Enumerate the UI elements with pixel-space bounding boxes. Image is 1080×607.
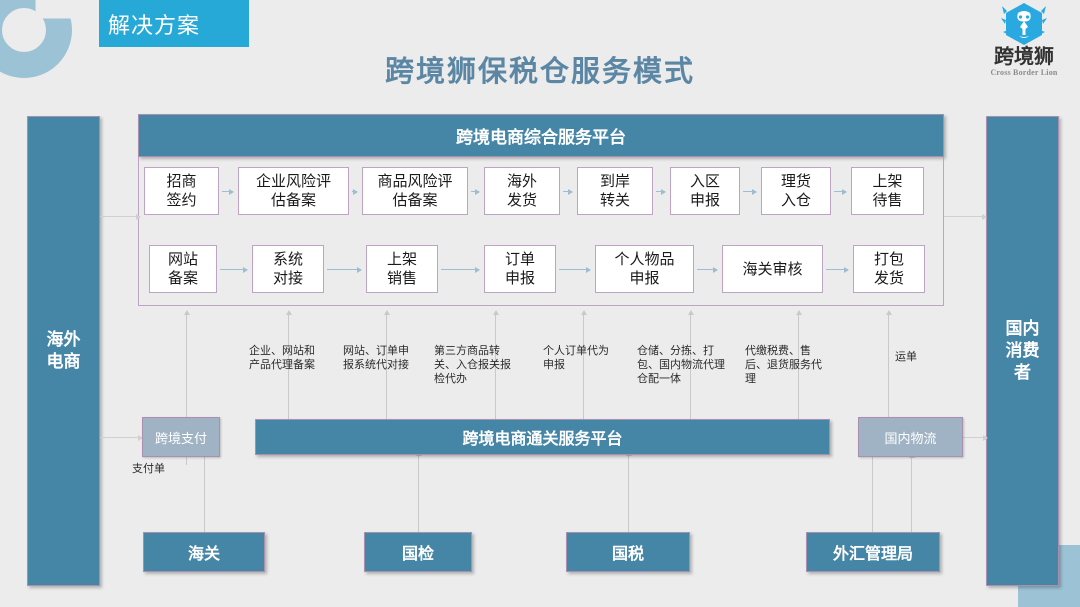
- pillar-domestic-consumer: 国内消费者: [986, 116, 1059, 586]
- process-box-r2-5[interactable]: 个人物品申报: [595, 245, 694, 293]
- process-box-r1-3[interactable]: 商品风险评估备案: [362, 167, 468, 215]
- flow-arrow: [656, 191, 665, 192]
- pillar-overseas-ecommerce: 海外电商: [27, 116, 100, 586]
- flow-arrow: [471, 191, 479, 192]
- service-box-1[interactable]: 跨境支付: [142, 417, 220, 457]
- slide-canvas: 解决方案 跨境狮保税仓服务模式 跨境狮 Cross Border Lion 海外…: [0, 0, 1080, 607]
- annotation-text-4: 个人订单代为 申报: [543, 344, 609, 372]
- annotation-text-8: 支付单: [132, 462, 165, 476]
- customs-service-platform-bar: 跨境电商通关服务平台: [255, 419, 830, 455]
- logo-en-text: Cross Border Lion: [972, 68, 1076, 77]
- pillar-right-label: 国内消费者: [1002, 318, 1044, 384]
- service-box-1-label: 跨境支付: [155, 428, 207, 447]
- pillar-link-arrow: [963, 437, 987, 438]
- agency-box-4[interactable]: 外汇管理局: [806, 532, 940, 572]
- process-box-r2-1-label: 网站备案: [168, 250, 198, 288]
- page-title: 跨境狮保税仓服务模式: [0, 48, 1080, 90]
- vertical-connector: [628, 455, 629, 532]
- pillar-left-label: 海外电商: [43, 329, 85, 373]
- process-box-r2-7-label: 打包发货: [874, 250, 904, 288]
- section-tag-label: 解决方案: [108, 8, 200, 40]
- pillar-link-arrow: [100, 437, 142, 438]
- process-box-r1-6-label: 入区申报: [690, 172, 720, 210]
- agency-box-1[interactable]: 海关: [143, 532, 265, 572]
- agency-box-3[interactable]: 国税: [566, 532, 690, 572]
- flow-arrow: [559, 269, 590, 270]
- annotation-text-6: 代缴税费、售 后、退货服务代 理: [745, 344, 822, 386]
- flow-arrow: [697, 269, 717, 270]
- agency-box-2[interactable]: 国检: [364, 532, 472, 572]
- logo-zh-text: 跨境狮: [972, 46, 1076, 68]
- platform-bar-label: 跨境电商综合服务平台: [456, 123, 626, 148]
- brand-logo: 跨境狮 Cross Border Lion: [972, 2, 1076, 94]
- section-tag: 解决方案: [99, 0, 249, 47]
- pillar-link-arrow: [100, 216, 140, 217]
- process-box-r1-8-label: 上架待售: [872, 172, 902, 210]
- flow-arrow: [220, 269, 247, 270]
- process-box-r2-6-label: 海关审核: [742, 260, 802, 279]
- flow-arrow: [222, 191, 233, 192]
- process-box-r1-5[interactable]: 到岸转关: [577, 167, 653, 215]
- agency-box-2-label: 国检: [402, 540, 434, 564]
- process-box-r2-3[interactable]: 上架销售: [366, 245, 438, 293]
- flow-arrow: [441, 269, 479, 270]
- process-box-r1-2[interactable]: 企业风险评估备案: [238, 167, 349, 215]
- flow-arrow: [327, 269, 361, 270]
- process-box-r2-2-label: 系统对接: [273, 250, 303, 288]
- lion-head-icon: [972, 2, 1076, 48]
- agency-box-3-label: 国税: [612, 540, 644, 564]
- process-box-r1-6[interactable]: 入区申报: [670, 167, 740, 215]
- flow-arrow: [826, 269, 848, 270]
- process-box-r2-4-label: 订单申报: [505, 250, 535, 288]
- process-box-r1-1-label: 招商签约: [166, 172, 196, 210]
- vertical-connector: [872, 455, 873, 532]
- comprehensive-service-platform-bar: 跨境电商综合服务平台: [138, 114, 944, 157]
- flow-arrow: [352, 191, 357, 192]
- vertical-connector: [204, 455, 205, 532]
- process-box-r1-2-label: 企业风险评估备案: [256, 172, 331, 210]
- process-box-r1-3-label: 商品风险评估备案: [377, 172, 452, 210]
- process-box-r2-6[interactable]: 海关审核: [722, 245, 823, 293]
- process-box-r2-2[interactable]: 系统对接: [252, 245, 324, 293]
- flow-arrow: [834, 191, 846, 192]
- annotation-text-1: 企业、网站和 产品代理备案: [249, 344, 315, 372]
- annotation-text-7: 运单: [895, 350, 917, 364]
- pillar-link-arrow: [944, 216, 986, 217]
- annotation-text-2: 网站、订单申 报系统代对接: [343, 344, 409, 372]
- process-box-r2-1[interactable]: 网站备案: [149, 245, 217, 293]
- agency-box-1-label: 海关: [188, 540, 220, 564]
- annotation-text-5: 仓储、分拣、打 包、国内物流代理 仓配一体: [637, 344, 725, 386]
- process-box-r2-4[interactable]: 订单申报: [484, 245, 556, 293]
- vertical-connector: [911, 457, 912, 532]
- process-box-r1-4-label: 海外发货: [507, 172, 537, 210]
- service-box-2[interactable]: 国内物流: [858, 417, 963, 457]
- process-box-r1-5-label: 到岸转关: [600, 172, 630, 210]
- process-box-r1-7[interactable]: 理货入仓: [761, 167, 831, 215]
- customs-bar-label: 跨境电商通关服务平台: [462, 425, 622, 449]
- service-box-2-label: 国内物流: [884, 428, 936, 447]
- vertical-connector: [418, 455, 419, 532]
- process-box-r1-7-label: 理货入仓: [781, 172, 811, 210]
- process-box-r2-7[interactable]: 打包发货: [853, 245, 925, 293]
- flow-arrow: [563, 191, 572, 192]
- process-box-r1-1[interactable]: 招商签约: [144, 167, 219, 215]
- vertical-connector: [186, 314, 187, 420]
- process-box-r2-5-label: 个人物品申报: [614, 250, 674, 288]
- vertical-connector: [888, 314, 889, 420]
- process-box-r1-8[interactable]: 上架待售: [851, 167, 924, 215]
- process-box-r2-3-label: 上架销售: [387, 250, 417, 288]
- process-box-r1-4[interactable]: 海外发货: [484, 167, 560, 215]
- flow-arrow: [743, 191, 756, 192]
- annotation-text-3: 第三方商品转 关、入仓报关报 检代办: [434, 344, 511, 386]
- agency-box-4-label: 外汇管理局: [833, 540, 913, 564]
